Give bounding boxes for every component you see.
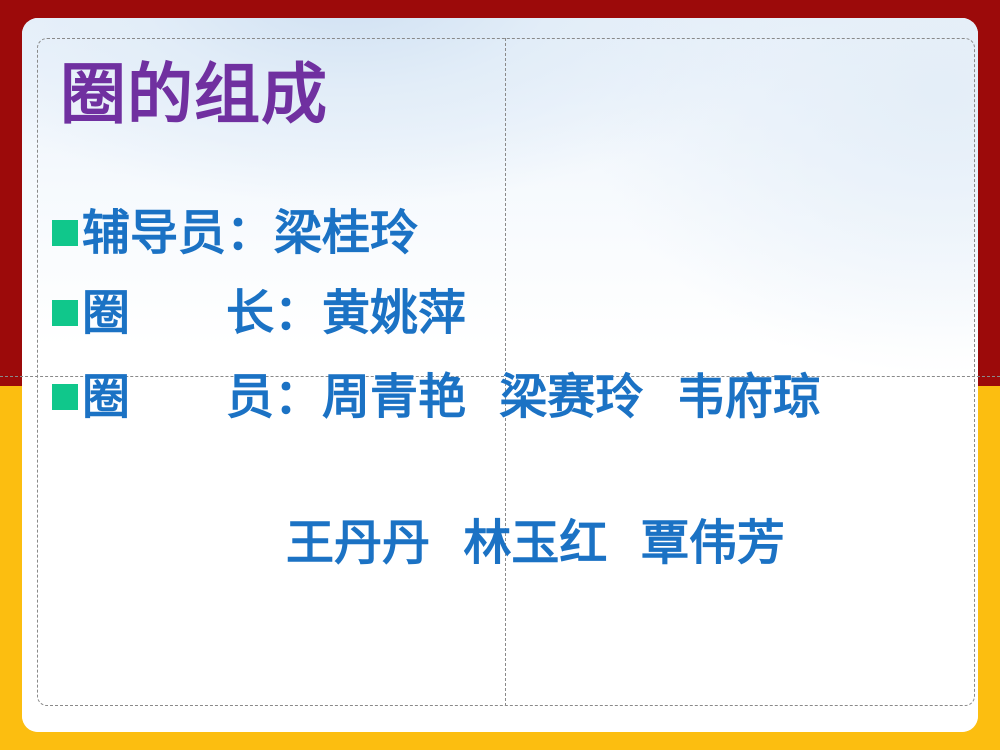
slide-canvas: 圈的组成 辅导员：梁桂玲 圈 长：黄姚萍 圈 员：周青艳 梁赛玲 韦府琼 王丹丹…: [0, 0, 1000, 750]
slide-title: 圈的组成: [60, 62, 328, 128]
bullet-text-advisor: 辅导员：梁桂玲: [82, 208, 418, 258]
slide-content: 圈的组成 辅导员：梁桂玲 圈 长：黄姚萍 圈 员：周青艳 梁赛玲 韦府琼 王丹丹…: [0, 0, 1000, 750]
bullet-text-members-continued: 王丹丹 林玉红 覃伟芳: [286, 518, 785, 568]
bullet-row-leader: 圈 长：黄姚萍: [52, 288, 466, 338]
square-bullet-icon: [52, 300, 78, 326]
bullet-row-advisor: 辅导员：梁桂玲: [52, 208, 418, 258]
bullet-text-members: 圈 员：周青艳 梁赛玲 韦府琼: [82, 372, 821, 422]
bullet-text-leader: 圈 长：黄姚萍: [82, 288, 466, 338]
square-bullet-icon: [52, 384, 78, 410]
square-bullet-icon: [52, 220, 78, 246]
bullet-row-members: 圈 员：周青艳 梁赛玲 韦府琼: [52, 372, 821, 422]
